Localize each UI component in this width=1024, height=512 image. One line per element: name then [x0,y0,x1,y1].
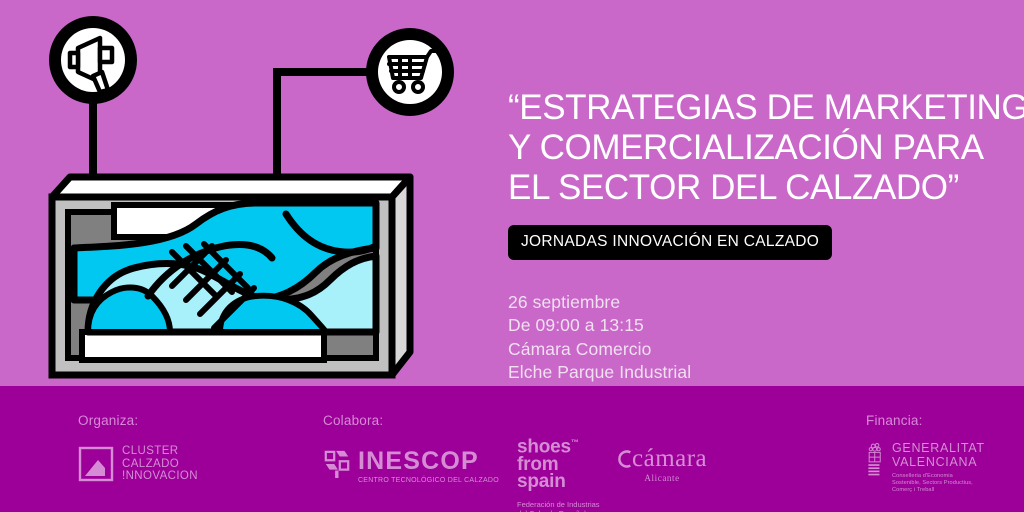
sfs-tagline-1: Federación de Industrias [517,500,600,509]
headline-line-1: “ESTRATEGIAS DE MARKETING [508,88,1008,128]
cluster-mark-icon [78,446,114,482]
inescop-word: INESCOP [358,449,499,474]
headline-block: “ESTRATEGIAS DE MARKETING Y COMERCIALIZA… [508,88,1008,385]
generalitat-wordmark: GENERALITAT VALENCIANA Conselleria d'Eco… [892,442,985,494]
event-venue: Cámara Comercio [508,338,1008,362]
shoebox [52,177,410,375]
conselleria-line-1: Conselleria d'Economia [892,473,985,480]
page-title: “ESTRATEGIAS DE MARKETING Y COMERCIALIZA… [508,88,1008,208]
event-poster: “ESTRATEGIAS DE MARKETING Y COMERCIALIZA… [0,0,1024,512]
logo-camara-alicante: cámara Alicante [617,446,707,483]
logo-inescop: INESCOP CENTRO TECNOLÓGICO DEL CALZADO [323,448,499,485]
event-date: 26 septiembre [508,291,1008,315]
camara-c-icon [617,448,632,470]
camara-word: cámara [632,445,707,472]
sfs-line-3: spain [517,473,600,491]
headline-line-2: Y COMERCIALIZACIÓN PARA [508,128,1008,168]
cluster-line-3: !NNOVACION [122,470,198,483]
shoebox-lid-top [52,177,410,197]
logo-shoes-from-spain: shoes™ from spain Federación de Industri… [517,434,600,512]
footer-label-organiza: Organiza: [78,413,138,428]
sponsor-footer: Organiza: Colabora: Financia: CLUSTER CA… [0,386,1024,512]
inescop-wordmark: INESCOP CENTRO TECNOLÓGICO DEL CALZADO [358,449,499,484]
conselleria-line-2: Sostenible, Sectors Productius, [892,480,985,487]
event-time: De 09:00 a 13:15 [508,314,1008,338]
status-badge: JORNADAS INNOVACIÓN EN CALZADO [508,225,832,260]
megaphone-icon [49,16,137,104]
event-details: 26 septiembre De 09:00 a 13:15 Cámara Co… [508,291,1008,385]
generalitat-line-1: GENERALITAT [892,442,985,456]
shoebox-tissue-bottom [82,332,324,360]
megaphone-connector-line [89,90,97,185]
conselleria-line-3: Comerç i Treball [892,487,985,494]
sfs-trademark-icon: ™ [571,438,579,447]
cluster-line-2: CALZADO [122,458,198,471]
inescop-tagline: CENTRO TECNOLÓGICO DEL CALZADO [358,477,499,484]
inescop-mark-icon [323,448,351,485]
generalitat-line-2: VALENCIANA [892,456,985,470]
footer-label-colabora: Colabora: [323,413,383,428]
camara-wordmark: cámara [617,446,707,471]
cluster-wordmark: CLUSTER CALZADO !NNOVACION [122,445,198,483]
camara-subtitle: Alicante [617,473,707,483]
logo-generalitat-valenciana: GENERALITAT VALENCIANA Conselleria d'Eco… [866,442,985,494]
event-location: Elche Parque Industrial [508,361,1008,385]
headline-line-3: EL SECTOR DEL CALZADO” [508,168,1008,208]
shopping-cart-icon [366,28,454,116]
shoebox-side-panel [392,177,410,375]
sfs-tagline: Federación de Industrias del Calzado Esp… [517,500,600,512]
sfs-line-1: shoes™ [517,434,600,456]
generalitat-conselleria: Conselleria d'Economia Sostenible, Secto… [892,473,985,494]
cart-connector-line [277,72,378,182]
cluster-line-1: CLUSTER [122,445,198,458]
shoebox-illustration [0,0,500,400]
logo-cluster-calzado-innovacion: CLUSTER CALZADO !NNOVACION [78,445,198,483]
generalitat-crest-icon [866,442,885,482]
footer-label-financia: Financia: [866,413,923,428]
